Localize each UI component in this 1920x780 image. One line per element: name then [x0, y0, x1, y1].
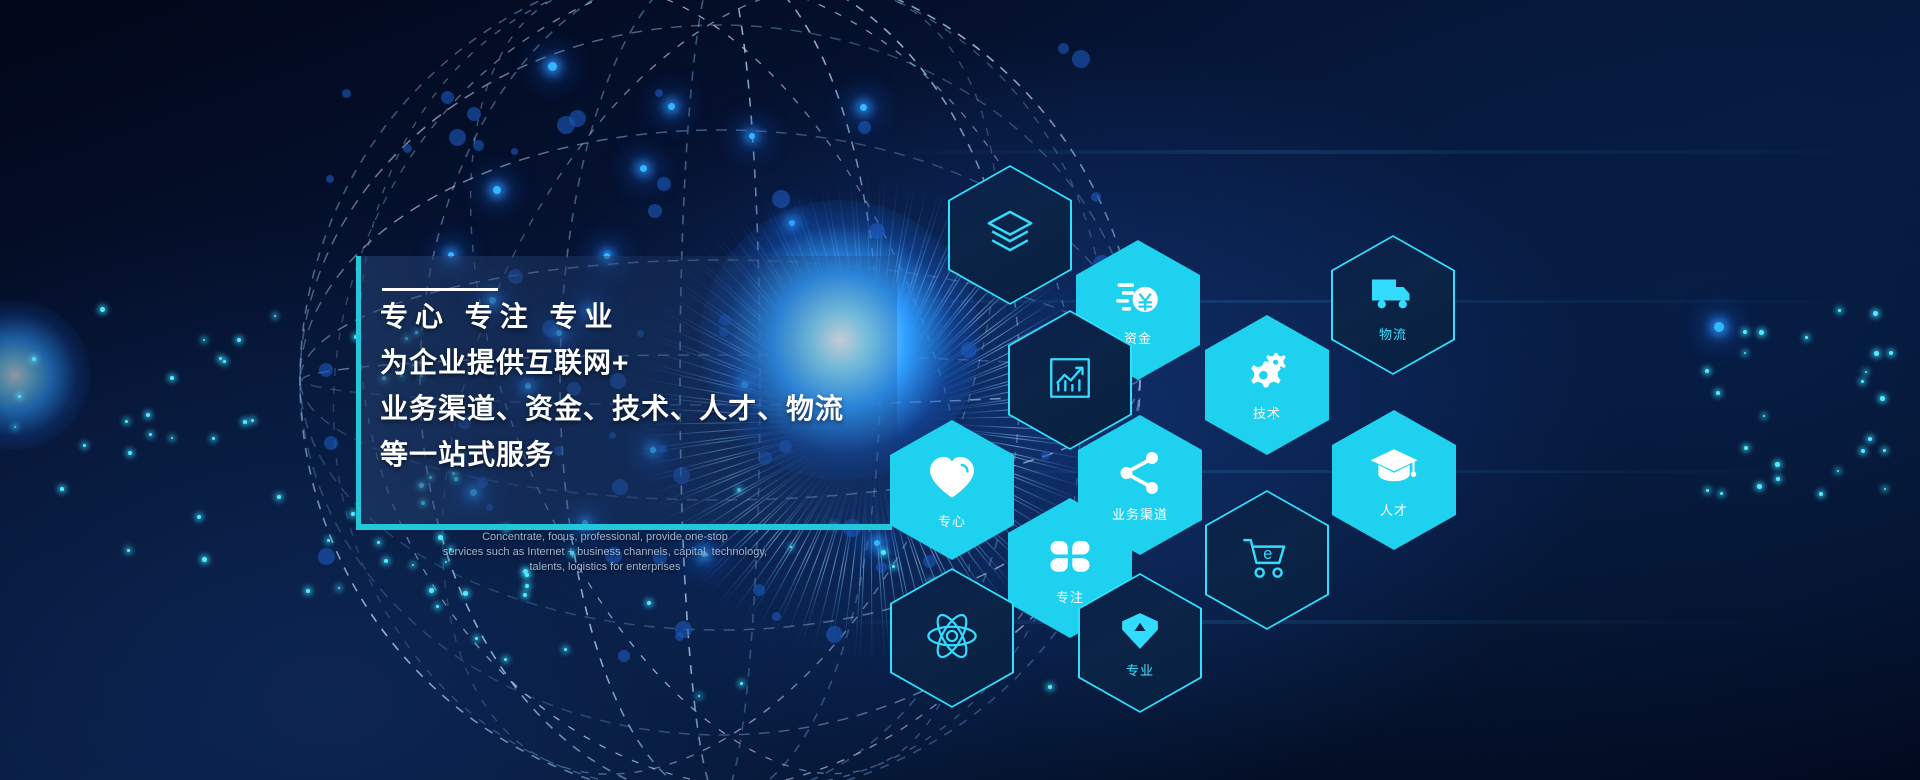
bokeh-dot — [318, 548, 335, 565]
spark-dot — [149, 433, 152, 436]
banner-stage: 专心 专注 专业 为企业提供互联网+ 业务渠道、资金、技术、人才、物流 等一站式… — [0, 0, 1920, 780]
yen-coin-icon — [1115, 275, 1161, 326]
bokeh-dot — [441, 91, 454, 104]
hex-tile-ecart[interactable]: e — [1205, 490, 1329, 630]
spark-dot — [790, 546, 792, 548]
spark-dot — [698, 695, 700, 697]
bokeh-dot — [557, 116, 575, 134]
spark-dot — [60, 487, 64, 491]
spark-dot — [564, 648, 567, 651]
headline-line-4: 等一站式服务 — [380, 436, 900, 474]
light-burst-left — [0, 300, 90, 450]
spark-dot — [219, 357, 222, 360]
layers-icon — [984, 207, 1036, 264]
bokeh-dot — [467, 107, 481, 121]
hexagon-grid: 资金 物流 — [880, 110, 1920, 670]
bokeh-dot — [403, 144, 412, 153]
bokeh-dot — [772, 612, 781, 621]
bokeh-dot — [1058, 43, 1069, 54]
spark-dot — [83, 444, 86, 447]
spark-dot — [203, 339, 205, 341]
spark-dot — [223, 360, 226, 363]
hex-label: 业务渠道 — [1112, 508, 1168, 521]
bokeh-dot — [342, 89, 351, 98]
hex-tile-focus[interactable]: 专心 — [890, 420, 1014, 560]
graduation-cap-icon — [1369, 443, 1419, 498]
spark-dot — [14, 426, 16, 428]
network-node — [860, 104, 867, 111]
spark-dot — [197, 515, 201, 519]
spark-dot — [127, 549, 130, 552]
spark-dot — [212, 437, 215, 440]
spark-dot — [523, 593, 527, 597]
english-line-2: services such as Internet + business cha… — [420, 545, 790, 560]
bokeh-dot — [511, 148, 518, 155]
spark-dot — [338, 587, 340, 589]
bokeh-dot — [326, 175, 334, 183]
spark-dot — [171, 437, 173, 439]
english-line-1: Concentrate, focus, professional, provid… — [420, 530, 790, 545]
spark-dot — [327, 539, 330, 542]
hex-tile-atom[interactable] — [890, 568, 1014, 708]
bokeh-dot — [655, 89, 663, 97]
headline-line-2: 为企业提供互联网+ — [380, 344, 900, 382]
spark-dot — [237, 338, 241, 342]
share-nodes-icon — [1116, 449, 1164, 502]
spark-dot — [18, 395, 21, 398]
hex-label: 技术 — [1253, 407, 1281, 420]
spark-dot — [146, 413, 150, 417]
spark-dot — [1048, 685, 1052, 689]
bokeh-dot — [826, 626, 843, 643]
bokeh-dot — [858, 121, 871, 134]
english-subtitle: Concentrate, focus, professional, provid… — [420, 530, 790, 575]
headline-line-1: 专心 专注 专业 — [380, 298, 900, 336]
hex-label: 人才 — [1380, 504, 1408, 517]
gears-icon — [1244, 350, 1290, 401]
bokeh-dot — [618, 650, 630, 662]
bar-chart-icon — [1045, 353, 1095, 408]
hex-tile-layers[interactable] — [948, 165, 1072, 305]
network-node — [640, 165, 647, 172]
svg-text:e: e — [1263, 544, 1272, 562]
spark-dot — [32, 357, 36, 361]
english-line-3: talents, logistics for enterprises — [420, 560, 790, 575]
spark-dot — [475, 637, 478, 640]
bokeh-dot — [319, 363, 333, 377]
spark-dot — [740, 682, 743, 685]
bokeh-dot — [657, 177, 671, 191]
hex-label: 专心 — [938, 515, 966, 528]
gem-icon — [1118, 609, 1162, 658]
spark-dot — [170, 376, 174, 380]
hex-tile-logistics[interactable]: 物流 — [1331, 235, 1455, 375]
bokeh-dot — [449, 129, 466, 146]
bokeh-dot — [473, 140, 484, 151]
network-node — [493, 186, 501, 194]
spark-dot — [377, 541, 380, 544]
spark-dot — [306, 589, 310, 593]
headline-group: 专心 专注 专业 为企业提供互联网+ 业务渠道、资金、技术、人才、物流 等一站式… — [380, 298, 900, 482]
truck-icon — [1369, 269, 1417, 322]
spark-dot — [243, 420, 247, 424]
headline-line-3: 业务渠道、资金、技术、人才、物流 — [380, 390, 900, 428]
bokeh-dot — [324, 436, 338, 450]
network-node — [668, 103, 675, 110]
bokeh-dot — [675, 621, 692, 638]
bokeh-dot — [772, 190, 790, 208]
atom-icon — [925, 609, 979, 668]
bokeh-dot — [569, 110, 586, 127]
spark-dot — [463, 591, 468, 596]
spark-dot — [100, 307, 105, 312]
hex-tile-talent[interactable]: 人才 — [1332, 410, 1456, 550]
clover-icon — [1046, 532, 1094, 585]
bokeh-dot — [675, 632, 684, 641]
spark-dot — [277, 495, 281, 499]
spark-dot — [436, 605, 439, 608]
spark-dot — [251, 419, 254, 422]
network-node — [749, 133, 755, 139]
hex-label: 专业 — [1126, 664, 1154, 677]
spark-dot — [202, 557, 207, 562]
spark-dot — [125, 420, 128, 423]
hex-label: 物流 — [1379, 328, 1407, 341]
headline-rule — [382, 288, 498, 291]
spark-dot — [647, 601, 651, 605]
hex-tile-tech[interactable]: 技术 — [1205, 315, 1329, 455]
e-cart-icon: e — [1241, 532, 1293, 589]
spark-dot — [412, 564, 414, 566]
network-node — [548, 62, 557, 71]
hex-label: 专注 — [1056, 591, 1084, 604]
spark-dot — [525, 584, 529, 588]
spark-dot — [274, 315, 276, 317]
heart-icon — [926, 452, 978, 509]
spark-dot — [429, 588, 434, 593]
bokeh-dot — [753, 584, 765, 596]
network-node — [789, 220, 795, 226]
spark-dot — [351, 512, 355, 516]
bokeh-dot — [648, 204, 662, 218]
bokeh-dot — [1072, 50, 1090, 68]
spark-dot — [384, 559, 388, 563]
spark-dot — [504, 658, 507, 661]
spark-dot — [128, 451, 132, 455]
